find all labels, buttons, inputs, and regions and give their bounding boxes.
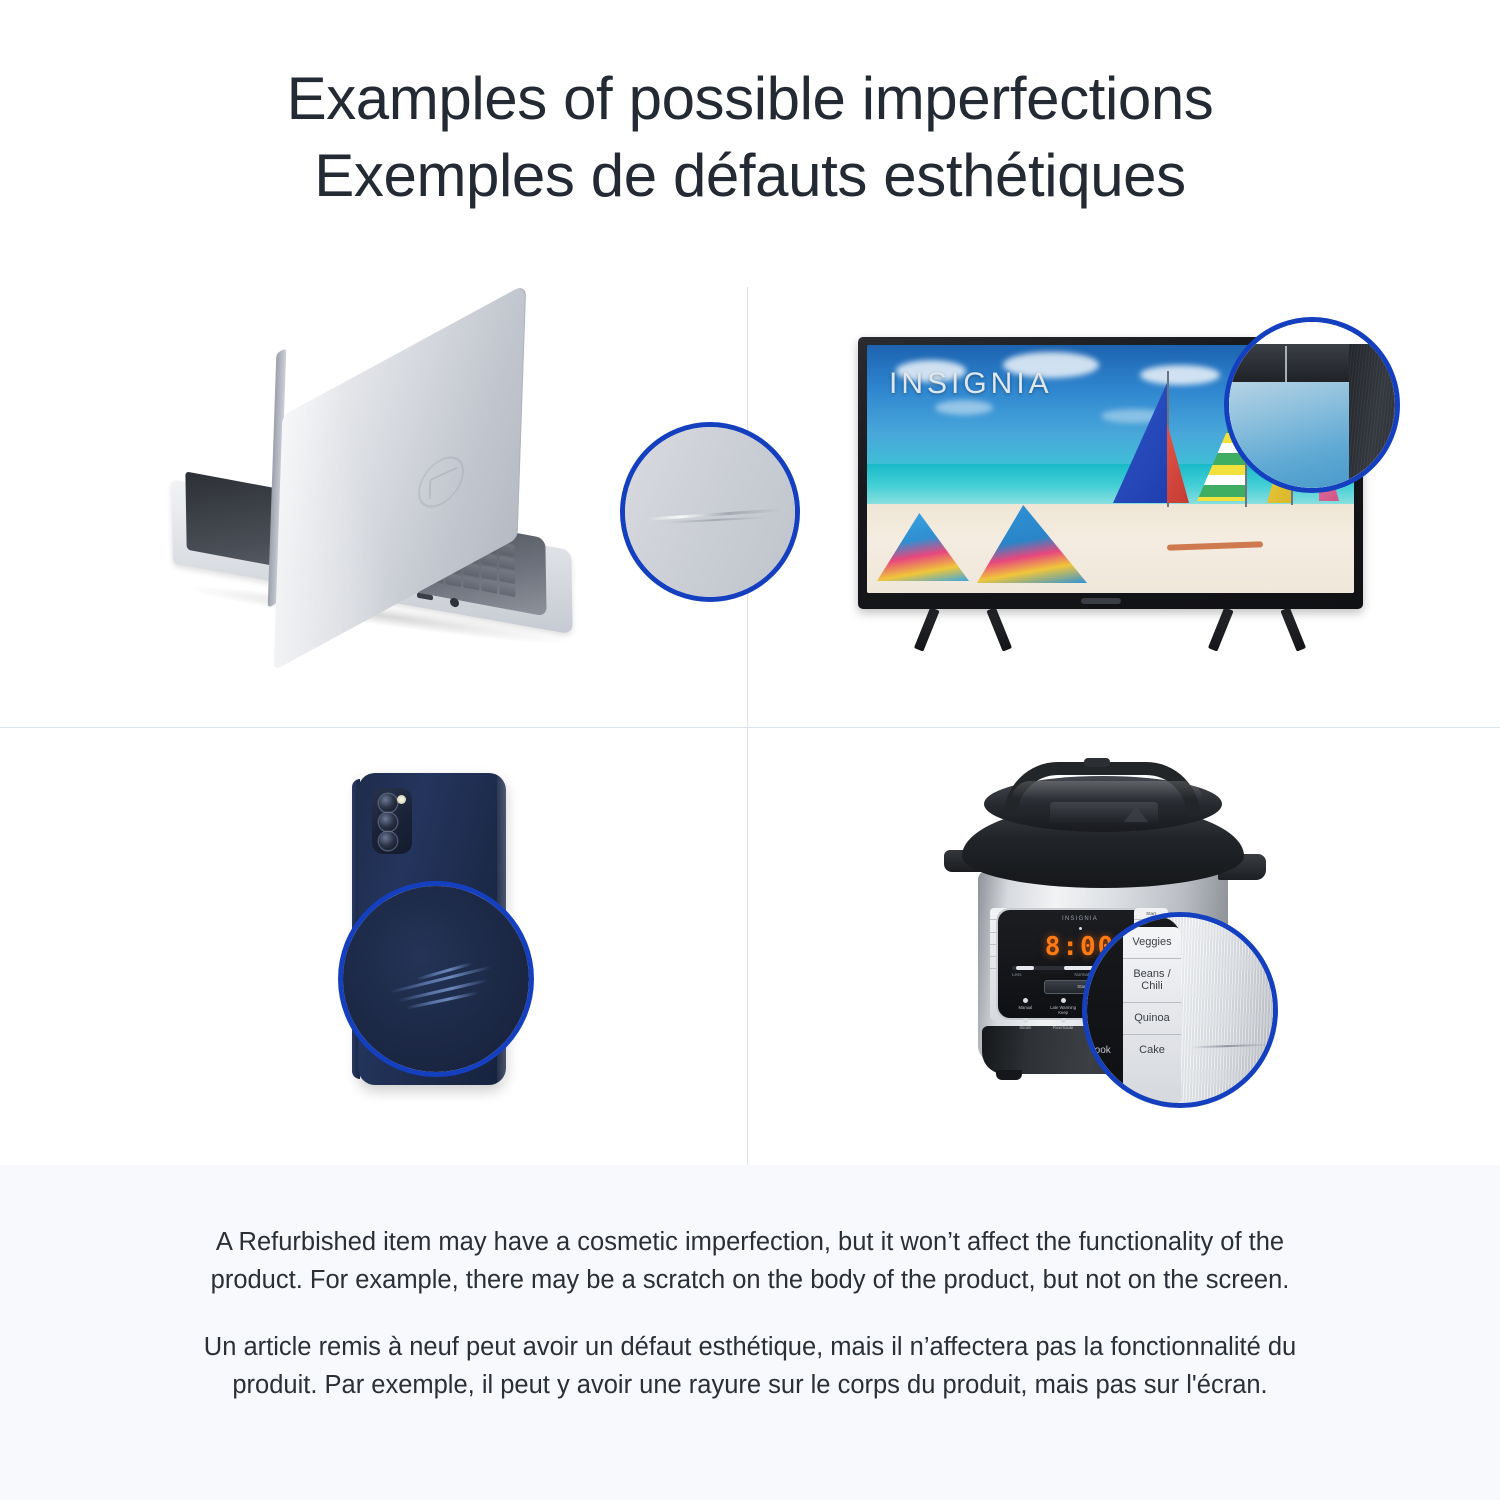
- cooker-level-label: Less: [1012, 972, 1022, 977]
- cooker-magnified-side-label: Delay: [1082, 989, 1089, 1000]
- page-title-english: Examples of possible imperfections: [287, 62, 1214, 135]
- cooker-magnified-button: Cake: [1123, 1035, 1181, 1066]
- magnifier-circle-television: [1224, 317, 1400, 493]
- tv-sail-red: [1167, 423, 1189, 503]
- disclaimer-french: Un article remis à neuf peut avoir un dé…: [170, 1328, 1330, 1405]
- magnifier-circle-laptop: [620, 422, 800, 602]
- disclaimer-english: A Refurbished item may have a cosmetic i…: [170, 1223, 1330, 1300]
- tv-bezel-scratch-mark: [1285, 346, 1287, 382]
- camera-flash-icon: [397, 795, 406, 804]
- magnifier-circle-pressure-cooker: Delay Slow Cook Veggies Beans / Chili Qu…: [1082, 912, 1278, 1108]
- cooker-magnified-button: Beans / Chili: [1123, 959, 1181, 1003]
- footer-disclaimer: A Refurbished item may have a cosmetic i…: [0, 1165, 1500, 1500]
- quadrant-laptop: [0, 287, 747, 727]
- examples-grid: INSIGNIA: [0, 287, 1500, 1165]
- page-title-french: Exemples de défauts esthétiques: [314, 139, 1186, 212]
- cooker-button[interactable]: Late Warming Keep: [1046, 998, 1081, 1015]
- cooker-magnified-side-label: Slow Cook: [1082, 1045, 1111, 1056]
- tv-bezel-texture: [1349, 344, 1400, 493]
- cooker-magnified-button: Quinoa: [1123, 1003, 1181, 1035]
- cooker-magnified-button-rail: Veggies Beans / Chili Quinoa Cake: [1123, 927, 1181, 1105]
- cooker-button[interactable]: Rice/Saute: [1046, 1018, 1081, 1030]
- camera-lens-icon: [379, 794, 397, 812]
- tv-leg-right: [1214, 609, 1300, 653]
- header: Examples of possible imperfections Exemp…: [0, 0, 1500, 287]
- cooker-foot: [996, 1070, 1022, 1080]
- tv-brand-logo: INSIGNIA: [889, 367, 1053, 401]
- pressure-cooker-illustration: Canned Rice Slow Cook Soup Stew / Chili …: [938, 758, 1318, 1138]
- cooker-button[interactable]: Manual: [1008, 998, 1043, 1015]
- camera-lens-icon: [379, 813, 397, 831]
- refurbished-imperfections-infographic: Examples of possible imperfections Exemp…: [0, 0, 1500, 1500]
- tv-magnified-screen-area: [1224, 380, 1351, 493]
- cooker-lid-handle: [1004, 762, 1200, 816]
- cooker-status-indicator-icon: [1079, 927, 1082, 930]
- television-illustration: INSIGNIA: [858, 317, 1398, 697]
- smartphone-illustration: [300, 773, 520, 1123]
- cooker-steam-release-icon: [1084, 758, 1110, 767]
- magnifier-circle-smartphone: [338, 881, 534, 1077]
- camera-lens-icon: [379, 832, 397, 850]
- cooker-magnified-button: Veggies: [1123, 927, 1181, 959]
- cooker-button[interactable]: Steam: [1008, 1018, 1043, 1030]
- laptop-illustration: [160, 347, 620, 677]
- tv-power-indicator-icon: [1081, 598, 1121, 604]
- quadrant-smartphone: [0, 728, 747, 1165]
- tv-leg-left: [920, 609, 1006, 653]
- quadrant-television: INSIGNIA: [748, 287, 1500, 727]
- quadrant-pressure-cooker: Canned Rice Slow Cook Soup Stew / Chili …: [748, 728, 1500, 1165]
- phone-camera-module: [372, 788, 412, 854]
